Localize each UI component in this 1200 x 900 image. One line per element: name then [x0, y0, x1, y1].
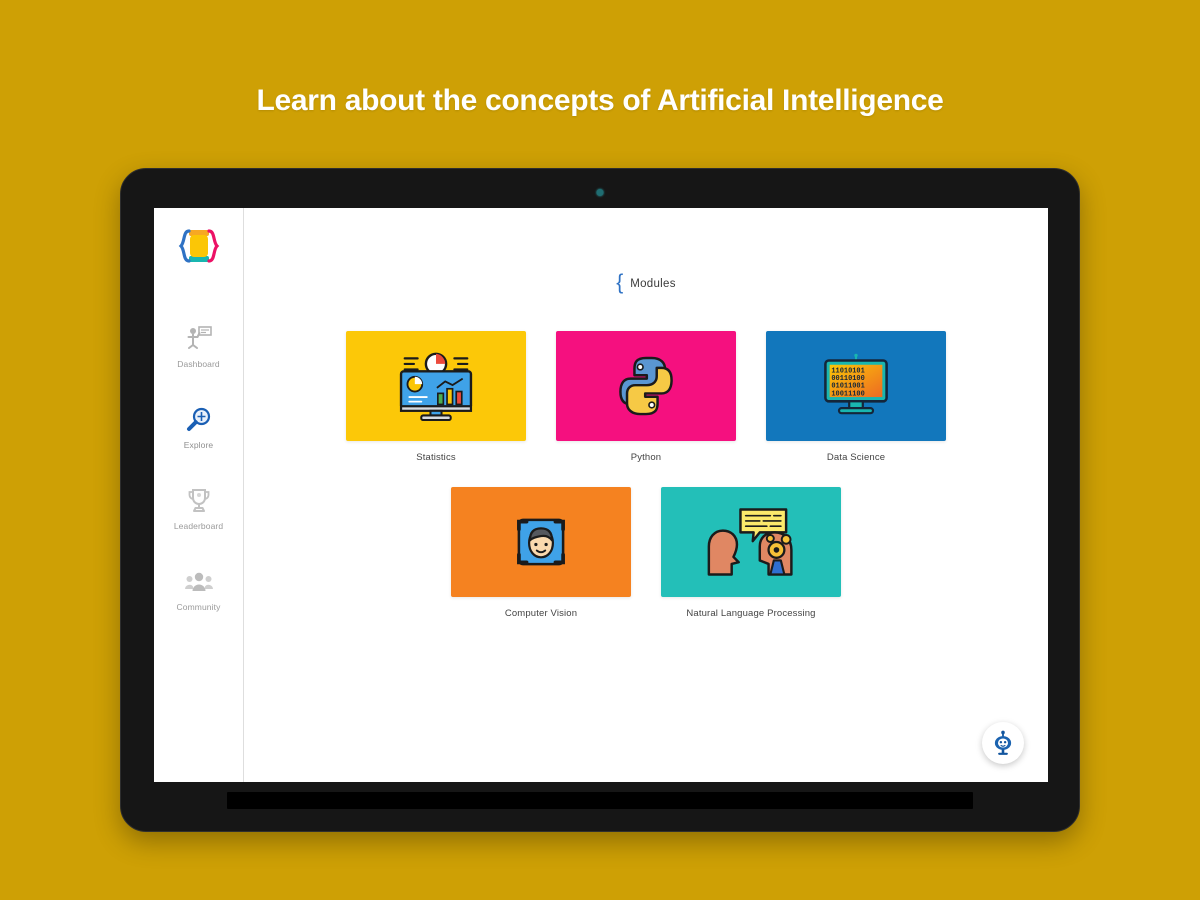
camera-dot-icon: [597, 189, 604, 196]
module-tile[interactable]: [451, 487, 631, 597]
section-title: Modules: [630, 278, 676, 290]
module-card-row: Computer Vision: [244, 487, 1048, 619]
module-card-row: Statistics Python: [244, 331, 1048, 463]
binary-monitor-icon: 11010101 00110100 01011001 10011100: [813, 352, 899, 420]
module-tile[interactable]: 11010101 00110100 01011001 10011100: [766, 331, 946, 441]
sidebar-item-label: Dashboard: [177, 359, 219, 369]
module-card-computer-vision[interactable]: Computer Vision: [451, 487, 631, 619]
chatbot-robot-icon: [990, 730, 1016, 756]
main-content: { Modules: [244, 208, 1048, 782]
module-label: Python: [631, 452, 661, 463]
presenter-board-icon: [184, 324, 214, 354]
talking-heads-icon: [705, 506, 797, 578]
chatbot-button[interactable]: [982, 722, 1024, 764]
people-group-icon: [184, 567, 214, 597]
module-card-nlp[interactable]: Natural Language Processing: [661, 487, 841, 619]
sidebar-item-community[interactable]: Community: [154, 567, 243, 612]
svg-text:10011100: 10011100: [831, 390, 864, 398]
sidebar-item-label: Leaderboard: [174, 521, 223, 531]
sidebar-item-leaderboard[interactable]: Leaderboard: [154, 486, 243, 531]
tablet-device-frame: Dashboard Explore: [120, 168, 1080, 832]
svg-text:00110100: 00110100: [831, 375, 864, 383]
modules-header: { Modules: [244, 274, 1048, 293]
face-detection-icon: [507, 508, 575, 576]
module-tile[interactable]: [661, 487, 841, 597]
module-label: Statistics: [416, 452, 456, 463]
sidebar: Dashboard Explore: [154, 208, 244, 782]
sidebar-item-label: Explore: [184, 440, 214, 450]
app-logo[interactable]: [177, 224, 221, 268]
module-card-data-science[interactable]: 11010101 00110100 01011001 10011100 Data…: [766, 331, 946, 463]
python-logo-icon: [613, 353, 679, 419]
magnifier-icon: [184, 405, 214, 435]
svg-text:01011001: 01011001: [831, 383, 864, 391]
module-tile[interactable]: [556, 331, 736, 441]
sidebar-item-label: Community: [177, 602, 221, 612]
module-label: Data Science: [827, 452, 885, 463]
trophy-icon: [184, 486, 214, 516]
module-card-statistics[interactable]: Statistics: [346, 331, 526, 463]
module-label: Natural Language Processing: [686, 608, 815, 619]
svg-text:11010101: 11010101: [831, 367, 864, 375]
module-label: Computer Vision: [505, 608, 577, 619]
sidebar-item-explore[interactable]: Explore: [154, 405, 243, 450]
tablet-screen: Dashboard Explore: [154, 208, 1048, 782]
tablet-home-bar: [227, 792, 973, 809]
module-tile[interactable]: [346, 331, 526, 441]
module-card-python[interactable]: Python: [556, 331, 736, 463]
brace-decoration-icon: {: [616, 272, 623, 293]
sidebar-item-dashboard[interactable]: Dashboard: [154, 324, 243, 369]
statistics-monitor-icon: [390, 351, 482, 421]
page-headline: Learn about the concepts of Artificial I…: [0, 84, 1200, 118]
